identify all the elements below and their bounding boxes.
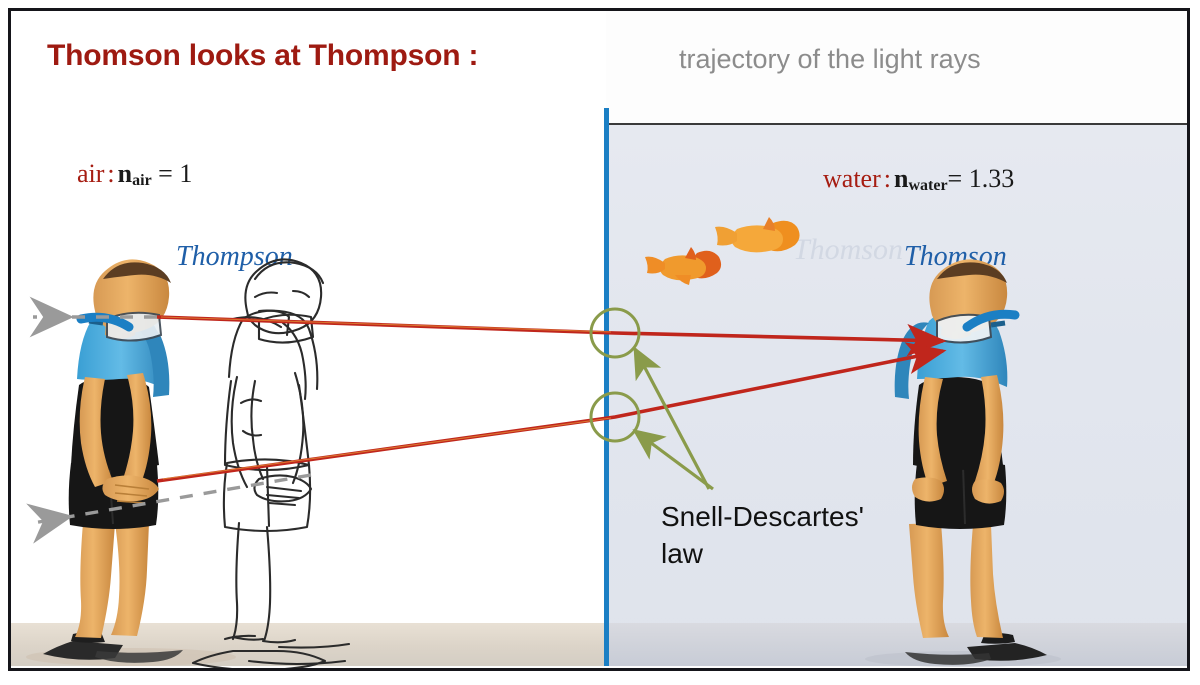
physics-diagram-scene: Thomson looks at Thompson : trajectory o…: [0, 0, 1200, 685]
snell-descartes-law-caption: Snell-Descartes' law: [661, 499, 961, 573]
air-index-label: air:nair = 1: [77, 159, 192, 190]
ground-air: [11, 623, 606, 666]
page-subtitle: trajectory of the light rays: [679, 44, 981, 75]
air-colon: :: [104, 159, 117, 188]
air-equals: =: [158, 159, 173, 188]
label-thomson: Thomson: [904, 241, 1007, 273]
air-medium-name: air: [77, 159, 104, 188]
water-equals: =: [948, 164, 963, 193]
water-index-label: water:nwater= 1.33: [823, 164, 1014, 195]
snell-law-line-1: Snell-Descartes': [661, 499, 961, 536]
water-medium-name: water: [823, 164, 881, 193]
snell-law-line-2: law: [661, 536, 961, 573]
page-title: Thomson looks at Thompson :: [47, 39, 478, 73]
water-index-symbol: n: [894, 164, 908, 193]
air-index-value: 1: [179, 159, 192, 188]
water-index-subscript: water: [908, 177, 947, 194]
water-index-value: 1.33: [969, 164, 1015, 193]
water-colon: :: [881, 164, 894, 193]
ground-water: [606, 623, 1190, 666]
air-water-interface-line: [604, 108, 609, 666]
water-region: [606, 123, 1190, 666]
label-thompson: Thompson: [176, 241, 293, 273]
background-watermark: Thomson: [793, 233, 903, 267]
air-index-symbol: n: [118, 159, 132, 188]
air-index-subscript: air: [132, 172, 152, 189]
diagram-frame: Thomson looks at Thompson : trajectory o…: [8, 8, 1190, 671]
air-region: [11, 11, 606, 666]
